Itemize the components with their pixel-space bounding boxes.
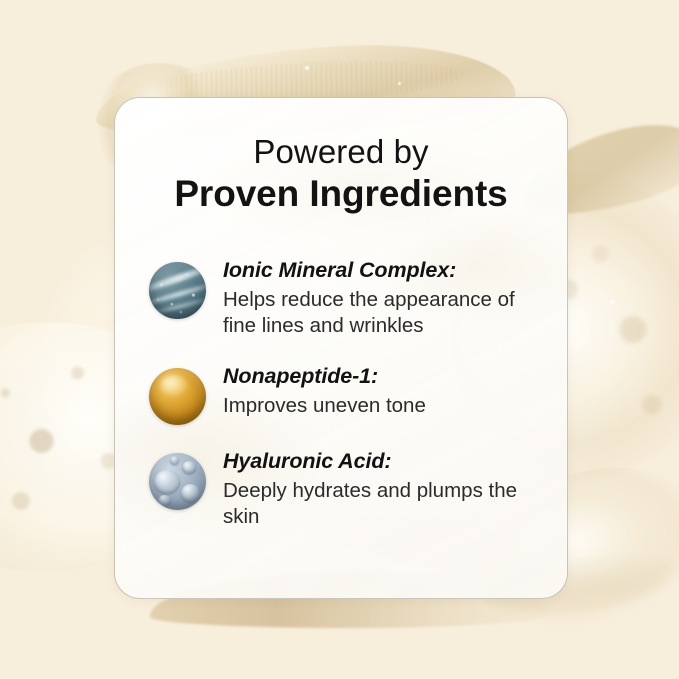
ingredient-list: Ionic Mineral Complex: Helps reduce the … (149, 256, 551, 531)
ingredients-card: Powered by Proven Ingredients Ionic Mine… (114, 97, 568, 599)
ingredient-title: Nonapeptide-1: (223, 363, 551, 390)
ingredient-description: Deeply hydrates and plumps the skin (223, 478, 523, 531)
mineral-sphere-icon (149, 262, 206, 319)
gel-sparkle (305, 66, 309, 70)
list-item: Nonapeptide-1: Improves uneven tone (149, 362, 551, 425)
water-droplet-sphere-icon (149, 453, 206, 510)
ingredient-title: Ionic Mineral Complex: (223, 257, 551, 284)
list-item: Hyaluronic Acid: Deeply hydrates and plu… (149, 447, 551, 531)
ingredient-description: Helps reduce the appearance of fine line… (223, 287, 523, 340)
list-item: Ionic Mineral Complex: Helps reduce the … (149, 256, 551, 340)
ingredient-title: Hyaluronic Acid: (223, 448, 551, 475)
sphere-shading (149, 262, 206, 319)
heading-line-1: Powered by (115, 134, 567, 171)
sphere-shading (149, 453, 206, 510)
gel-sparkle (610, 300, 614, 304)
sphere-shading (149, 368, 206, 425)
ingredient-description: Improves uneven tone (223, 393, 523, 420)
gel-sparkle (398, 82, 401, 85)
heading-line-2: Proven Ingredients (115, 173, 567, 215)
product-ingredient-infographic: Powered by Proven Ingredients Ionic Mine… (0, 0, 679, 679)
gold-sphere-icon (149, 368, 206, 425)
page-title: Powered by Proven Ingredients (115, 134, 567, 215)
